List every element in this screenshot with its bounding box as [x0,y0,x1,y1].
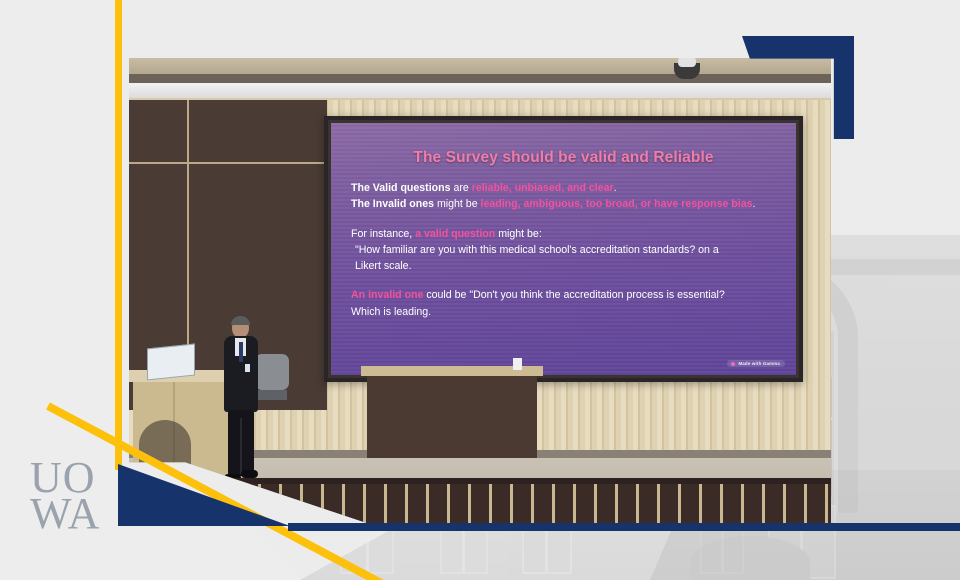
slide-line: For instance, a valid question might be: [351,226,780,242]
slide-line: Which is leading. [351,304,780,320]
cup [513,358,522,370]
presenter [221,318,261,488]
slide-text-segment: leading, ambiguous, too broad, or have r… [481,198,753,210]
slide-text-segment: might be [437,198,481,210]
navy-horizontal-rule [288,523,960,531]
slide-line: "How familiar are you with this medical … [351,242,780,258]
uowa-logo: UO WA [30,460,100,532]
watermark-label: Made with Gamma [738,361,780,366]
slide-text-segment: are [453,182,471,194]
slide-line: Likert scale. [351,258,780,274]
gamma-watermark: Made with Gamma [727,360,785,367]
slide-text-segment: . [614,182,617,194]
slide-body: The Valid questions are reliable, unbias… [351,180,780,320]
slide-text-segment: "How familiar are you with this medical … [355,244,719,256]
slide-text-segment: The Invalid ones [351,198,437,210]
slide-text-segment: Which is leading. [351,306,431,318]
slide-text-segment: could be "Don't you think the accreditat… [423,289,724,301]
yellow-vertical-bar [115,0,122,470]
slide-text-segment: reliable, unbiased, and clear [472,182,614,194]
slide-text-segment: Likert scale. [355,260,412,272]
presentation-slide: The Survey should be valid and Reliable … [331,123,796,375]
logo-line-2: WA [30,496,100,532]
lecture-hall-photo: The Survey should be valid and Reliable … [129,58,831,528]
slide-photo-banner: The Survey should be valid and Reliable … [0,0,960,580]
slide-line: The Invalid ones might be leading, ambig… [351,196,780,212]
slide-title: The Survey should be valid and Reliable [331,149,796,167]
slide-text-segment: The Valid questions [351,182,453,194]
ceiling-projector-icon [674,63,700,79]
slide-text-segment: might be: [495,228,542,240]
slide-text-segment: For instance, [351,228,415,240]
laptop [147,343,195,380]
projection-screen: The Survey should be valid and Reliable … [324,116,803,382]
gamma-logo-icon [731,362,735,366]
slide-line: An invalid one could be "Don't you think… [351,287,780,303]
slide-text-segment: . [753,198,756,210]
side-desk [367,374,537,458]
slide-text-segment: a valid question [415,228,495,240]
slide-text-segment: An invalid one [351,289,423,301]
slide-line: The Valid questions are reliable, unbias… [351,180,780,196]
